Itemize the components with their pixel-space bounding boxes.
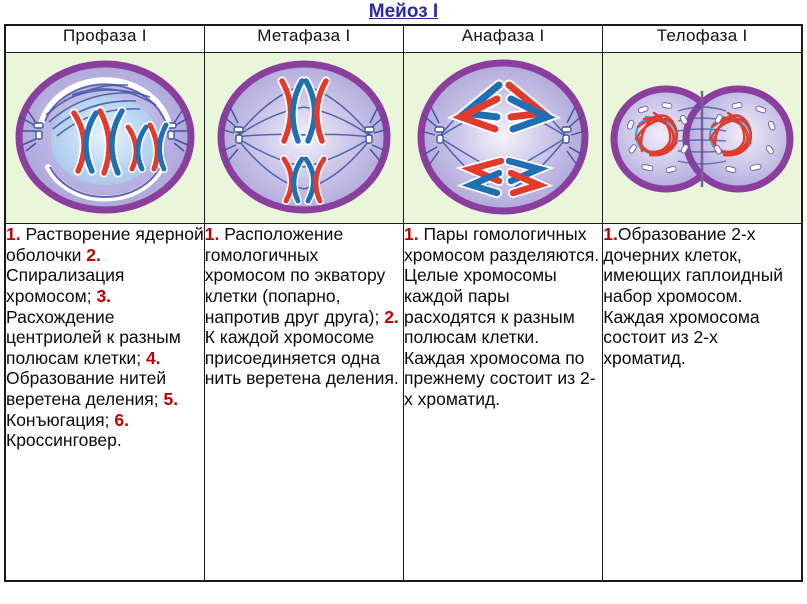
phase-header-metaphase-1: Метафаза I (204, 25, 403, 53)
metaphase-i-cell-diagram (214, 55, 394, 219)
phase-header-telophase-1: Телофаза I (603, 25, 802, 53)
diagram-cell-metaphase-1 (204, 53, 403, 224)
list-item: Пары гомологичных хромосом разделяются. … (404, 224, 599, 409)
list-number: 1. (6, 224, 21, 244)
meiosis-table-page: Мейоз I Профаза I Метафаза I Анафаза I Т… (0, 0, 807, 604)
anaphase-i-cell-diagram (413, 55, 593, 219)
list-number: 1. (603, 224, 618, 244)
list-number: 1. (404, 224, 419, 244)
description-cell-telophase-1: 1.Образование 2-х дочерних клеток, имеющ… (603, 224, 802, 582)
phase-header-anaphase-1: Анафаза I (404, 25, 603, 53)
list-item: К каждой хромосоме присоединяется одна н… (205, 327, 399, 388)
list-number: 2. (86, 245, 101, 265)
list-item: Образование 2-х дочерних клеток, имеющих… (603, 224, 783, 368)
diagram-cell-anaphase-1 (404, 53, 603, 224)
list-number: 4. (146, 348, 161, 368)
list-number: 6. (114, 410, 129, 430)
list-number: 2. (384, 307, 399, 327)
table-description-row: 1. Растворение ядерной оболочки 2. Спира… (5, 224, 802, 582)
diagram-cell-prophase-1 (5, 53, 204, 224)
table-header-row: Профаза I Метафаза I Анафаза I Телофаза … (5, 25, 802, 53)
page-title: Мейоз I (369, 1, 438, 23)
prophase-i-cell-diagram (12, 55, 198, 219)
telophase-i-cell-diagram (610, 55, 794, 219)
list-number: 1. (205, 224, 220, 244)
description-cell-metaphase-1: 1. Расположение гомологичных хромосом по… (204, 224, 403, 582)
meiosis-phases-table: Профаза I Метафаза I Анафаза I Телофаза … (4, 24, 803, 582)
description-cell-prophase-1: 1. Растворение ядерной оболочки 2. Спира… (5, 224, 204, 582)
list-item: Кроссинговер. (6, 430, 122, 450)
list-item: Расположение гомологичных хромосом по эк… (205, 224, 386, 327)
list-item: Образование нитей веретена деления; (6, 368, 166, 409)
list-item: Растворение ядерной оболочки (6, 224, 204, 265)
phase-header-prophase-1: Профаза I (5, 25, 204, 53)
list-number: 3. (96, 286, 111, 306)
page-title-bar: Мейоз I (0, 0, 807, 24)
table-diagram-row (5, 53, 802, 224)
list-number: 5. (164, 389, 179, 409)
diagram-cell-telophase-1 (603, 53, 802, 224)
list-item: Конъюгация; (6, 410, 110, 430)
description-cell-anaphase-1: 1. Пары гомологичных хромосом разделяютс… (404, 224, 603, 582)
